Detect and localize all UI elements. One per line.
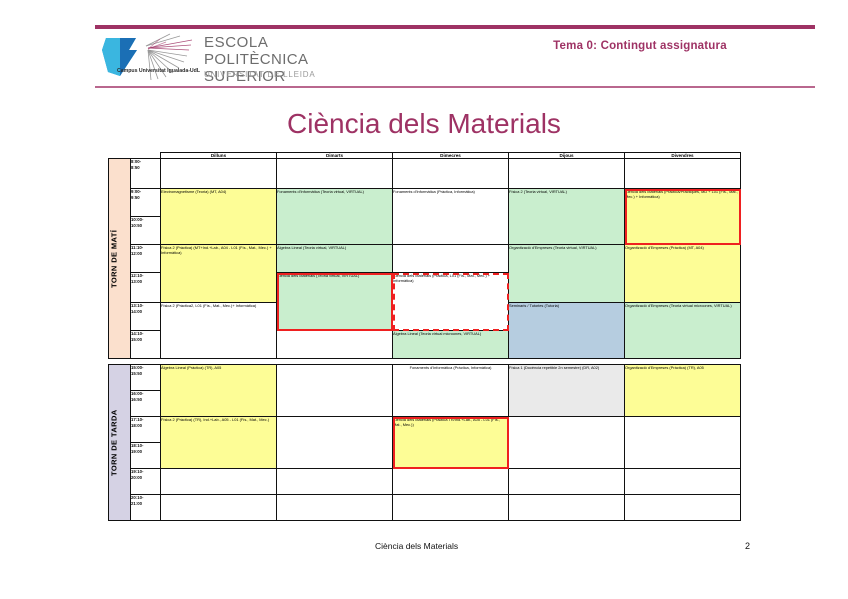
event-aft-fri-organitzacio[interactable]: Organització d'Empreses (Pràctica) (TR),…	[625, 365, 741, 417]
event-aft-mon-algebra[interactable]: Àlgebra Lineal (Pràctica) (TR), A05	[161, 365, 277, 417]
cell-fri-0800[interactable]	[625, 159, 741, 189]
page-title: Ciència dels Materials	[0, 108, 848, 140]
cell-aft-mon-2010[interactable]	[161, 495, 277, 521]
table-row: TORN DE MATÍ 8:00- 8:50	[109, 159, 741, 189]
time-slot-0800: 8:00- 8:50	[131, 159, 161, 189]
header-rule-top	[95, 25, 815, 29]
cell-wed-0800[interactable]	[393, 159, 509, 189]
cell-aft-fri-1710[interactable]	[625, 417, 741, 469]
cell-aft-thu-2010[interactable]	[509, 495, 625, 521]
header-topic-title: Tema 0: Contingut assignatura	[470, 40, 810, 52]
event-aft-wed-fonaments[interactable]: Fonaments d'Informàtica (Pràctica, Infor…	[393, 365, 509, 417]
event-aft-thu-fisica1[interactable]: Física 1 (Docència repetible 2n semestre…	[509, 365, 625, 417]
event-thu-fisica2[interactable]: Física 2 (Teoria virtual, VIRTUAL)	[509, 189, 625, 245]
time-slot-1210: 12:10- 13:00	[131, 273, 161, 303]
cell-aft-fri-1910[interactable]	[625, 469, 741, 495]
institution-logo: Campus Universitat Igualada-UdL ESCOLA P…	[96, 32, 386, 84]
cell-thu-0800[interactable]	[509, 159, 625, 189]
corner-blank	[109, 153, 131, 159]
time-slot-1810: 18:10- 19:00	[131, 443, 161, 469]
time-slot-1110: 11:10- 12:00	[131, 245, 161, 273]
cell-aft-tue-1910[interactable]	[277, 469, 393, 495]
event-fri-organitzacio-practica[interactable]: Organització d'Empreses (Pràctica) (MT, …	[625, 245, 741, 303]
timetable: Dilluns Dimarts Dimecres Dijous Divendre…	[108, 152, 740, 535]
table-row: 9:00- 9:50 Electromagnetisme (Teoria) (M…	[109, 189, 741, 217]
event-wed-fonaments-informatica[interactable]: Fonaments d'Informàtica (Pràctica, Infor…	[393, 189, 509, 245]
time-slot-1000: 10:00- 10:50	[131, 217, 161, 245]
campus-tag: Campus Universitat Igualada-UdL	[117, 68, 200, 75]
cell-aft-fri-2010[interactable]	[625, 495, 741, 521]
event-mon-fisica2[interactable]: Física 2 (Pràctica) (MT+Ind.+Lab., A04 -…	[161, 245, 277, 303]
time-slot-2010: 20:10- 21:00	[131, 495, 161, 521]
time-slot-1310: 13:10- 14:00	[131, 303, 161, 331]
table-row: 20:10- 21:00	[109, 495, 741, 521]
cell-aft-mon-1910[interactable]	[161, 469, 277, 495]
table-row: 19:10- 20:00	[109, 469, 741, 495]
cell-aft-tue-2010[interactable]	[277, 495, 393, 521]
footer-page-number: 2	[745, 541, 750, 551]
event-thu-organitzacio-empreses[interactable]: Organització d'Empreses (Teoria virtual,…	[509, 245, 625, 303]
cell-aft-wed-2010[interactable]	[393, 495, 509, 521]
cell-tue-1410[interactable]	[277, 331, 393, 359]
turn-label-tarda: TORN DE TARDA	[109, 365, 131, 521]
time-slot-1500: 15:00- 15:50	[131, 365, 161, 391]
event-wed-algebra-virtual[interactable]: Àlgebra Lineal (Teoria virtual microones…	[393, 331, 509, 359]
time-slot-1710: 17:10- 18:00	[131, 417, 161, 443]
time-slot-1600: 16:00- 16:50	[131, 391, 161, 417]
time-slot-1410: 14:10- 15:00	[131, 331, 161, 359]
eps-logo-icon	[96, 32, 196, 84]
event-fri-ciencia-materials[interactable]: Ciència dels Materials (Pràctica/Pràctiq…	[625, 189, 741, 245]
cell-wed-1110[interactable]	[393, 245, 509, 273]
event-aft-wed-cdm[interactable]: Ciència dels Materials (Pràctica TR/Ind.…	[393, 417, 509, 469]
logo-line-escola: ESCOLA	[204, 34, 268, 51]
time-slot-1910: 19:10- 20:00	[131, 469, 161, 495]
event-aft-mon-fisica2[interactable]: Física 2 (Pràctica) (TR), Ind.+Lab., A05…	[161, 417, 277, 469]
time-slot-0900: 9:00- 9:50	[131, 189, 161, 217]
cell-aft-thu-1710[interactable]	[509, 417, 625, 469]
cell-aft-thu-1910[interactable]	[509, 469, 625, 495]
event-wed-cdm-practica[interactable]: Ciència dels Materials (Pràctica, L01 (F…	[393, 273, 509, 331]
table-row: 11:10- 12:00 Física 2 (Pràctica) (MT+Ind…	[109, 245, 741, 273]
event-tue-fonaments-informatica[interactable]: Fonaments d'Informàtica (Teoria virtual,…	[277, 189, 393, 245]
event-fri-organitzacio-virtual[interactable]: Organització d'Empreses (Teoria virtual …	[625, 303, 741, 359]
table-row: 17:10- 18:00 Física 2 (Pràctica) (TR), I…	[109, 417, 741, 443]
logo-line-universitat: UNIVERSITAT DE LLEIDA	[204, 70, 316, 79]
cell-aft-tue-1500[interactable]	[277, 365, 393, 417]
timetable-table: Dilluns Dimarts Dimecres Dijous Divendre…	[108, 152, 741, 521]
slide-root: Campus Universitat Igualada-UdL ESCOLA P…	[0, 0, 848, 599]
event-tue-cdm-teoria-virtual[interactable]: Ciència dels Materials (Teoria virtual, …	[277, 273, 393, 331]
event-tue-algebra-lineal[interactable]: Àlgebra Lineal (Teoria virtual, VIRTUAL)	[277, 245, 393, 273]
cell-tue-0800[interactable]	[277, 159, 393, 189]
table-row: TORN DE TARDA 15:00- 15:50 Àlgebra Linea…	[109, 365, 741, 391]
cell-aft-wed-1910[interactable]	[393, 469, 509, 495]
cell-aft-tue-1710[interactable]	[277, 417, 393, 469]
header-rule-bottom	[95, 86, 815, 88]
footer-title: Ciència dels Materials	[375, 541, 458, 551]
turn-label-mati: TORN DE MATÍ	[109, 159, 131, 359]
event-thu-seminaris-tutories[interactable]: Seminaris / Tutories (Tutoria)	[509, 303, 625, 359]
event-mon-fisica2-lab[interactable]: Física 2 (Pràctica2, L01 (Fís., Mat., Me…	[161, 303, 277, 359]
logo-line-politecnica: POLITÈCNICA SUPERIOR	[204, 51, 386, 85]
event-mon-electromagnetisme[interactable]: Electromagnetisme (Teoria) (MT, A04)	[161, 189, 277, 245]
cell-mon-0800[interactable]	[161, 159, 277, 189]
